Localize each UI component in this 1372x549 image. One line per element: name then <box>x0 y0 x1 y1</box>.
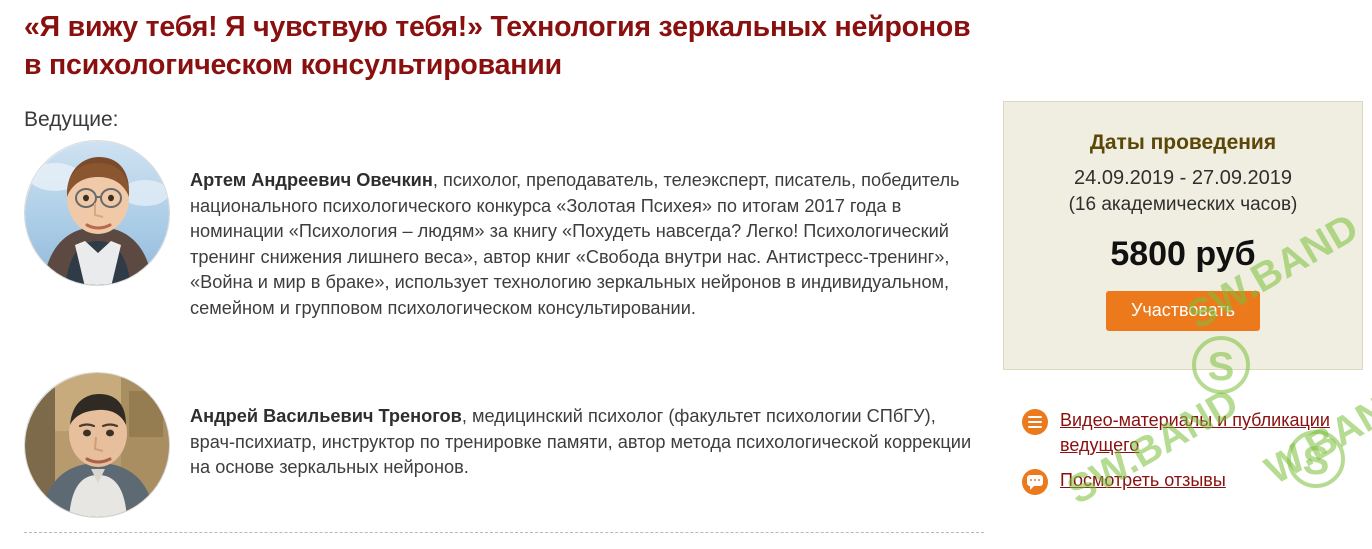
comment-icon <box>1022 469 1048 495</box>
link-video-materials[interactable]: Видео-материалы и публикации ведущего <box>1022 408 1367 458</box>
presenter-2-name: Андрей Васильевич Треногов <box>190 406 462 426</box>
presenter-1-name: Артем Андреевич Овечкин <box>190 170 433 190</box>
dates-hours: (16 академических часов) <box>1004 194 1362 216</box>
related-links: Видео-материалы и публикации ведущего По… <box>1022 408 1367 505</box>
section-divider <box>24 532 984 533</box>
page-root: «Я вижу тебя! Я чувствую тебя!» Технолог… <box>0 0 1372 549</box>
presenter-2-bio: Андрей Васильевич Треногов, медицинский … <box>190 404 980 481</box>
link-reviews[interactable]: Посмотреть отзывы <box>1022 468 1367 495</box>
participate-button[interactable]: Участвовать <box>1106 291 1260 331</box>
link-video-materials-label[interactable]: Видео-материалы и публикации ведущего <box>1060 408 1367 458</box>
presenter-1-bio: Артем Андреевич Овечкин, психолог, препо… <box>190 168 990 322</box>
dates-range: 24.09.2019 - 27.09.2019 <box>1004 167 1362 190</box>
event-info-card: Даты проведения 24.09.2019 - 27.09.2019 … <box>1003 101 1363 370</box>
avatar-artem-ovechkin <box>24 140 170 286</box>
presenter-1-bio-text: , психолог, преподаватель, телеэксперт, … <box>190 170 960 318</box>
avatar-andrey-trenogov <box>24 372 170 518</box>
leaders-label: Ведущие: <box>24 108 119 132</box>
link-reviews-label[interactable]: Посмотреть отзывы <box>1060 468 1226 493</box>
dates-title: Даты проведения <box>1004 131 1362 155</box>
page-title: «Я вижу тебя! Я чувствую тебя!» Технолог… <box>24 8 984 84</box>
list-icon <box>1022 409 1048 435</box>
price-value: 5800 руб <box>1004 235 1362 274</box>
